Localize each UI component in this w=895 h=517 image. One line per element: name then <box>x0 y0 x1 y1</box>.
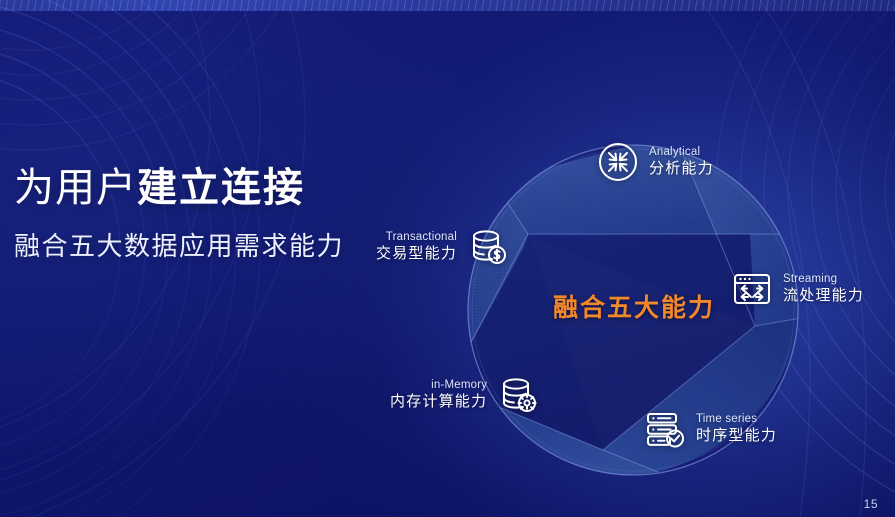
node-streaming[interactable]: Streaming 流处理能力 <box>730 267 864 311</box>
database-gear-icon <box>496 373 540 417</box>
subheadline: 融合五大数据应用需求能力 <box>14 233 344 259</box>
node-timeseries[interactable]: Time series 时序型能力 <box>643 407 777 451</box>
node-streaming-cn: 流处理能力 <box>783 288 864 305</box>
node-streaming-labels: Streaming 流处理能力 <box>783 273 864 305</box>
node-analytical-labels: Analytical 分析能力 <box>649 146 714 178</box>
node-transactional-en: Transactional <box>386 231 457 244</box>
node-inmemory[interactable]: in-Memory 内存计算能力 <box>390 373 540 417</box>
node-timeseries-labels: Time series 时序型能力 <box>696 413 777 445</box>
node-transactional-labels: Transactional 交易型能力 <box>376 231 457 263</box>
node-inmemory-en: in-Memory <box>431 379 487 392</box>
top-accent-band <box>0 0 895 11</box>
headline-bold: 建立连接 <box>137 166 305 210</box>
node-inmemory-cn: 内存计算能力 <box>390 394 487 411</box>
slide-canvas: 为用户建立连接 融合五大数据应用需求能力 <box>0 0 895 517</box>
database-dollar-icon <box>466 225 510 269</box>
node-analytical-en: Analytical <box>649 146 714 159</box>
node-streaming-en: Streaming <box>783 273 864 286</box>
node-timeseries-en: Time series <box>696 413 777 426</box>
node-timeseries-cn: 时序型能力 <box>696 428 777 445</box>
contract-arrows-circle-icon <box>596 140 640 184</box>
node-analytical-cn: 分析能力 <box>649 161 714 178</box>
node-analytical[interactable]: Analytical 分析能力 <box>596 140 714 184</box>
node-transactional-cn: 交易型能力 <box>376 246 457 263</box>
page-number: 15 <box>864 497 878 511</box>
headline: 为用户建立连接 <box>14 168 305 208</box>
node-transactional[interactable]: Transactional 交易型能力 <box>376 225 510 269</box>
node-inmemory-labels: in-Memory 内存计算能力 <box>390 379 487 411</box>
center-label: 融合五大能力 <box>534 296 734 321</box>
headline-thin: 为用户 <box>14 166 137 210</box>
capabilities-diagram: 融合五大能力 Analytical 分析能力 Transac <box>400 110 870 510</box>
server-check-icon <box>643 407 687 451</box>
window-shuffle-icon <box>730 267 774 311</box>
